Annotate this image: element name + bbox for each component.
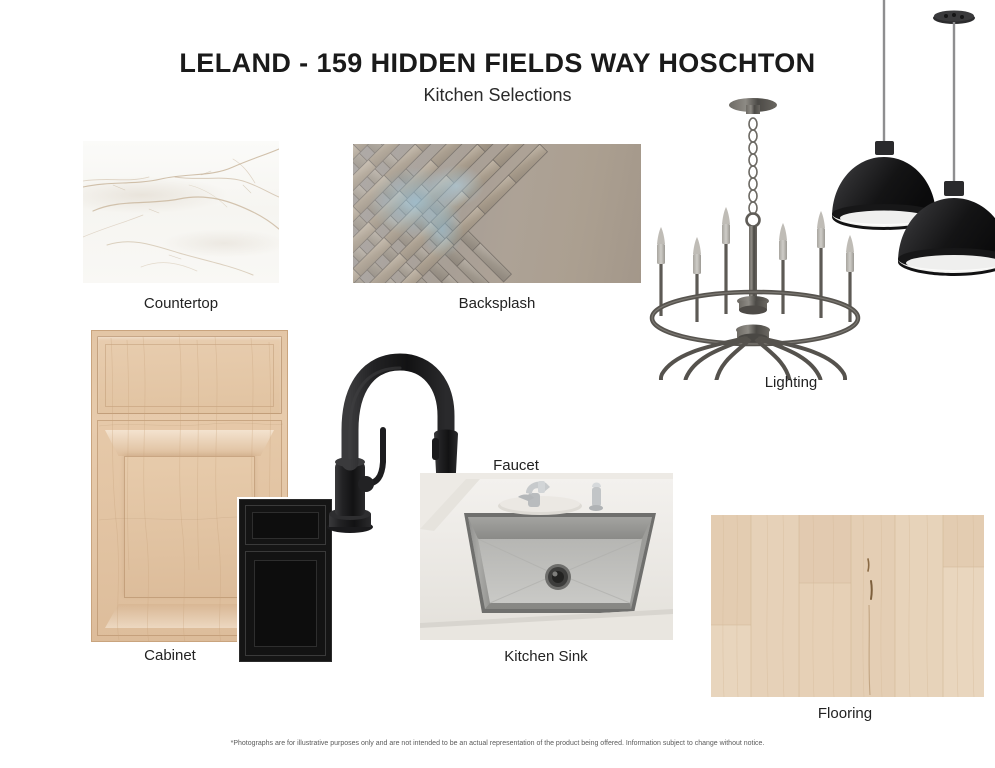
caption-kitchen-sink: Kitchen Sink — [446, 648, 646, 665]
caption-countertop: Countertop — [81, 295, 281, 312]
countertop-swatch — [83, 141, 279, 283]
marble-veining-icon — [83, 141, 279, 283]
caption-faucet: Faucet — [416, 457, 616, 474]
caption-flooring: Flooring — [745, 705, 945, 722]
caption-backsplash: Backsplash — [397, 295, 597, 312]
cabinet-center-panel — [124, 456, 255, 598]
lighting-group — [636, 0, 995, 380]
pendant-light-lower-icon — [898, 11, 995, 277]
disclaimer-text: *Photographs are for illustrative purpos… — [0, 740, 995, 747]
black-cabinet-drawer-front — [245, 505, 326, 545]
wood-plank-pattern-icon — [711, 515, 984, 697]
pendant-light-upper-icon — [832, 0, 936, 230]
selection-board: LELAND - 159 HIDDEN FIELDS WAY HOSCHTON … — [0, 0, 995, 768]
sink-illustration-icon — [420, 473, 673, 640]
kitchen-sink-photo — [420, 473, 673, 640]
backsplash-swatch — [353, 144, 641, 283]
cabinet-drawer-front — [97, 336, 282, 414]
herringbone-pattern-icon — [353, 144, 641, 283]
black-cabinet-door-panel — [245, 551, 326, 656]
flooring-swatch — [711, 515, 984, 697]
chandelier-icon — [652, 98, 858, 380]
cabinet-door-black — [239, 499, 332, 662]
cabinet-bevel-top — [105, 430, 274, 456]
caption-lighting: Lighting — [691, 374, 891, 391]
